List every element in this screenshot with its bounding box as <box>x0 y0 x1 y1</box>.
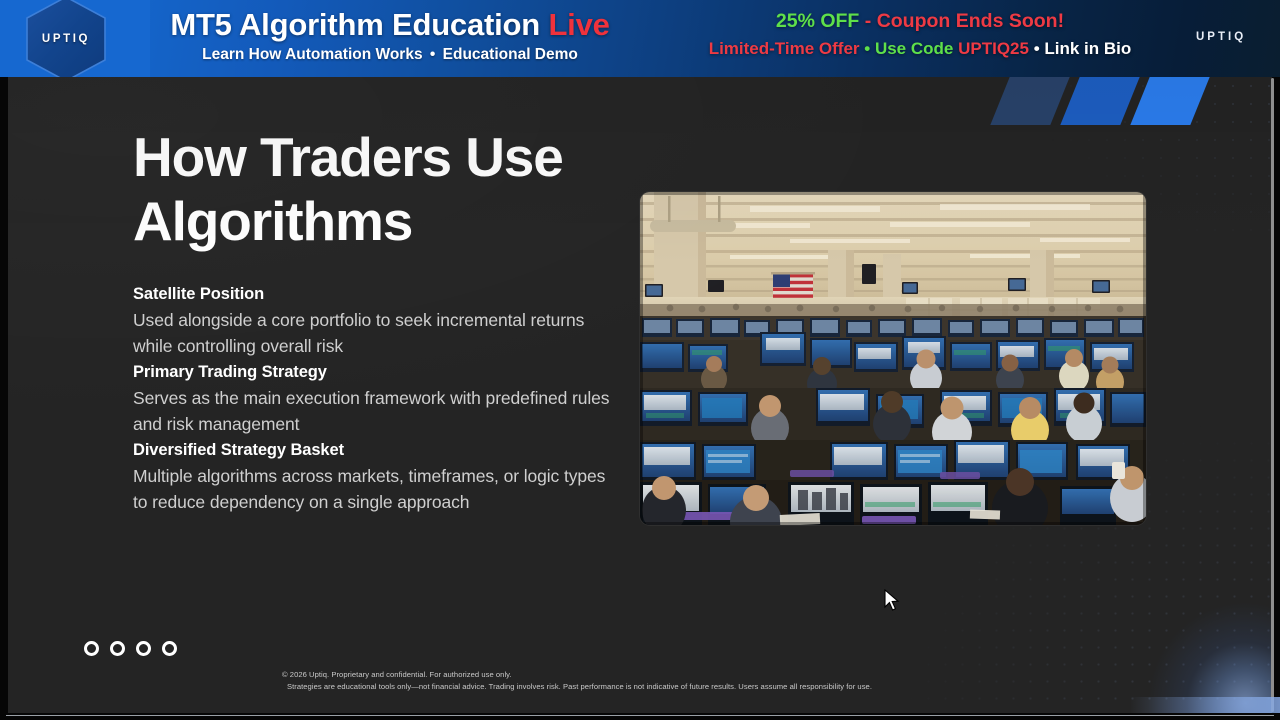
banner-title-main: MT5 Algorithm Education <box>170 7 540 42</box>
accent-bar-3 <box>1130 77 1209 125</box>
banner-subtitle-part1: Learn How Automation Works <box>202 46 422 63</box>
banner-subtitle-separator: • <box>427 44 438 66</box>
promo-banner: UPTIQ MT5 Algorithm Education Live Learn… <box>0 0 1280 77</box>
block-heading-1: Satellite Position <box>133 281 613 307</box>
promo-discount: 25% OFF <box>776 10 859 32</box>
slide-body-copy: Satellite Position Used alongside a core… <box>133 281 613 515</box>
pagination-dot-4[interactable] <box>162 641 177 656</box>
accent-bar-2 <box>1060 77 1139 125</box>
promo-text-block: 25% OFF - Coupon Ends Soon! Limited-Time… <box>660 6 1180 62</box>
accent-bar-1 <box>990 77 1069 125</box>
banner-brand-wordmark: UPTIQ <box>1196 31 1246 43</box>
pagination-dot-1[interactable] <box>84 641 99 656</box>
accent-bars-decoration <box>970 77 1200 125</box>
pagination-dot-2[interactable] <box>110 641 125 656</box>
banner-subtitle: Learn How Automation Works • Educational… <box>140 44 640 66</box>
trading-floor-image <box>640 192 1146 525</box>
mouse-cursor <box>884 589 900 613</box>
slide-canvas: How Traders Use Algorithms Satellite Pos… <box>8 77 1272 714</box>
promo-subline: Limited-Time Offer • Use Code UPTIQ25 • … <box>660 36 1180 62</box>
legal-disclaimer: © 2026 Uptiq. Proprietary and confidenti… <box>282 669 1022 693</box>
vertical-scrollbar[interactable] <box>1271 78 1274 712</box>
block-body-3: Multiple algorithms across markets, time… <box>133 463 613 515</box>
bottom-hairline <box>6 715 1274 717</box>
left-edge-rail <box>0 77 8 720</box>
promo-coupon-code: UPTIQ25 <box>958 39 1029 58</box>
promo-use-code-label: Use Code <box>875 39 953 58</box>
block-body-1: Used alongside a core portfolio to seek … <box>133 307 613 359</box>
promo-link-in-bio: Link in Bio <box>1044 39 1131 58</box>
promo-limited-time: Limited-Time Offer <box>709 39 860 58</box>
risk-disclaimer-line: Strategies are educational tools only—no… <box>282 681 1022 693</box>
bottom-right-blue-edge <box>1130 697 1280 713</box>
banner-title: MT5 Algorithm Education Live <box>140 6 640 44</box>
promo-separator-1: • <box>864 39 870 58</box>
promo-headline: 25% OFF - Coupon Ends Soon! <box>660 6 1180 36</box>
promo-urgency: Coupon Ends Soon! <box>877 10 1064 32</box>
copyright-line: © 2026 Uptiq. Proprietary and confidenti… <box>282 669 1022 681</box>
promo-dash: - <box>865 10 872 32</box>
block-body-2: Serves as the main execution framework w… <box>133 385 613 437</box>
uptiq-hexagon-logo[interactable]: UPTIQ <box>22 0 110 77</box>
slide-headline: How Traders Use Algorithms <box>133 125 653 253</box>
block-heading-2: Primary Trading Strategy <box>133 359 613 385</box>
presentation-screen: UPTIQ MT5 Algorithm Education Live Learn… <box>0 0 1280 720</box>
banner-title-block: MT5 Algorithm Education Live Learn How A… <box>140 6 640 66</box>
block-heading-3: Diversified Strategy Basket <box>133 437 613 463</box>
pagination-dot-3[interactable] <box>136 641 151 656</box>
promo-separator-2: • <box>1034 39 1040 58</box>
pagination-dots[interactable] <box>84 641 177 656</box>
hexagon-logo-label: UPTIQ <box>22 0 110 77</box>
banner-subtitle-part2: Educational Demo <box>443 46 578 63</box>
banner-title-live-badge: Live <box>548 7 609 42</box>
trading-floor-image-content <box>640 192 1146 525</box>
